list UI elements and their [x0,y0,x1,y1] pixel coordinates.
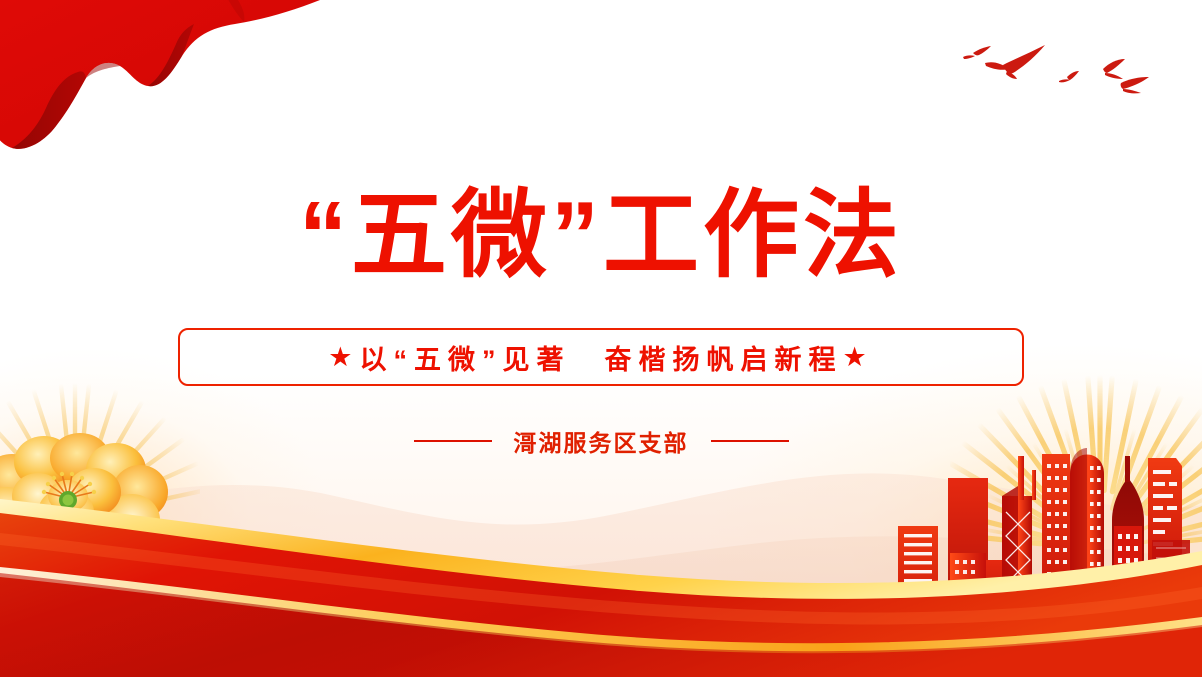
subtitle-text-row: ★ 以“五微”见著 奋楷扬帆启新程 ★ [328,338,873,377]
star-right-icon: ★ [843,344,874,371]
star-left-icon: ★ [328,344,359,371]
page-title: “五微”工作法 [0,186,1202,287]
byline: 滒湖服务区支部 [0,424,1202,458]
presentation-slide: “五微”工作法 ★ 以“五微”见著 奋楷扬帆启新程 ★ 滒湖服务区支部 [0,0,1202,677]
byline-rule-right [711,440,789,442]
subtitle-banner: ★ 以“五微”见著 奋楷扬帆启新程 ★ [178,328,1024,386]
byline-label: 滒湖服务区支部 [514,424,689,458]
slide-content: “五微”工作法 ★ 以“五微”见著 奋楷扬帆启新程 ★ 滒湖服务区支部 [0,0,1202,677]
subtitle-label: 以“五微”见著 奋楷扬帆启新程 [360,338,843,377]
byline-rule-left [414,440,492,442]
